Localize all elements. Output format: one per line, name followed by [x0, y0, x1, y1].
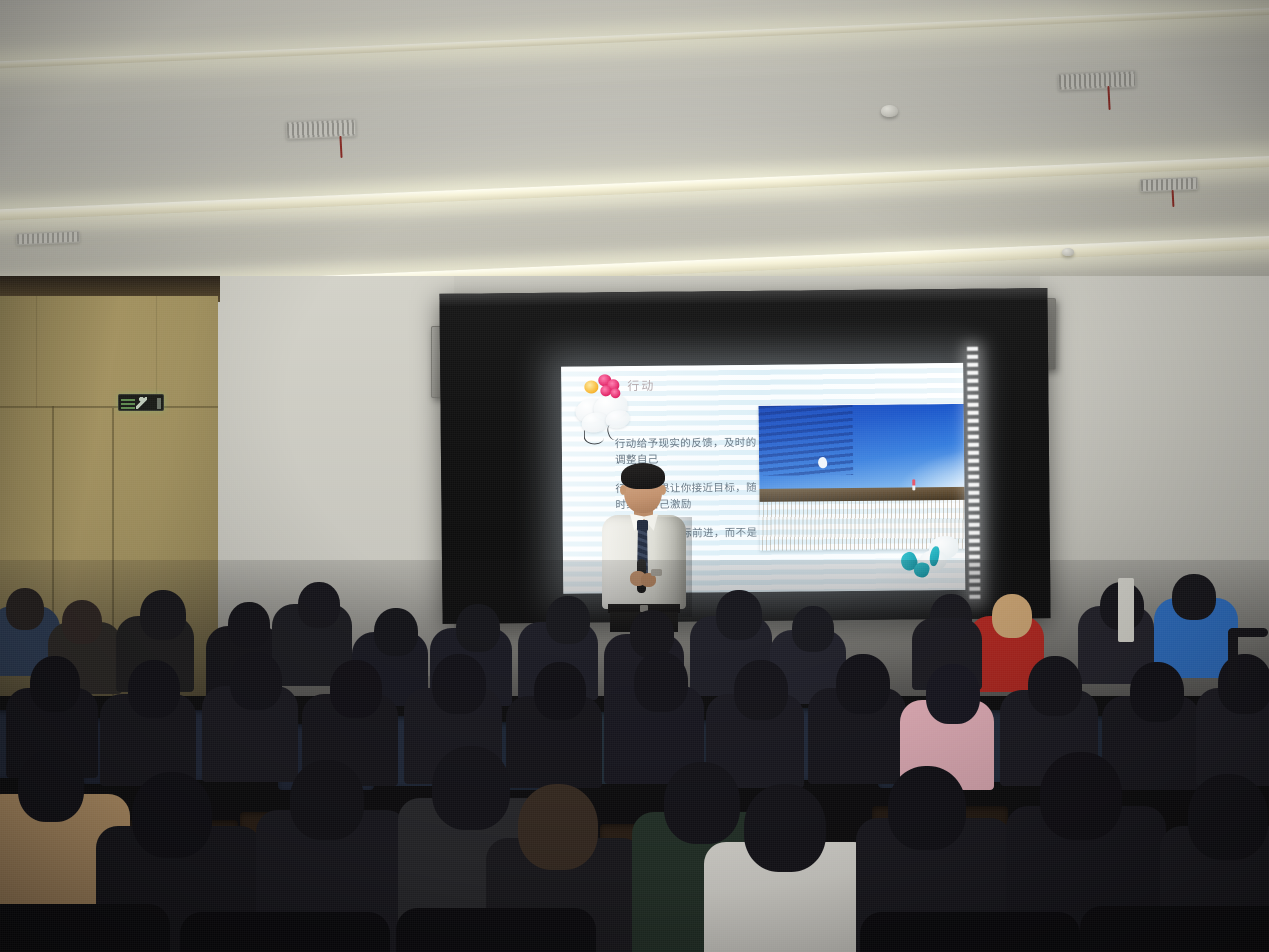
- audience-head: [630, 610, 674, 658]
- presenter-ear-left: [620, 485, 626, 495]
- flower-swirl-stem: [584, 430, 604, 444]
- audience-head: [140, 590, 186, 640]
- wheat-field-photo: [759, 403, 966, 550]
- audience-front-silhouette: [180, 912, 390, 952]
- audience-head: [30, 656, 80, 712]
- audience-head: [6, 588, 44, 630]
- audience-head: [836, 654, 890, 714]
- audience-head: [132, 772, 212, 858]
- ceiling: [0, 0, 1269, 300]
- whiteboard-stand: [1118, 578, 1134, 642]
- audience-head: [1130, 662, 1184, 722]
- audience-front-silhouette: [396, 908, 596, 952]
- audience-head: [1172, 574, 1216, 620]
- wood-seam-vertical-3: [36, 296, 37, 408]
- audience-head: [664, 762, 740, 844]
- wood-seam-horizontal: [0, 406, 218, 408]
- audience-head: [374, 608, 418, 656]
- wood-seam-vertical-4: [156, 296, 157, 408]
- audience-head: [456, 604, 500, 652]
- audience-head: [128, 660, 180, 718]
- exit-sign-bars-icon: [121, 398, 135, 409]
- audience-front-silhouette: [1080, 906, 1269, 952]
- audience-head: [716, 590, 762, 640]
- audience-head: [1188, 774, 1268, 860]
- audience-head: [228, 602, 270, 648]
- presenter-hair: [621, 463, 665, 489]
- audience-head: [734, 660, 788, 720]
- audience-head: [18, 750, 84, 822]
- audience-head-brown-hair: [518, 784, 598, 870]
- pink-flower: [610, 388, 620, 398]
- running-person-icon: [136, 397, 147, 409]
- exit-sign: [118, 394, 164, 411]
- audience-head-fur-hood: [992, 594, 1032, 638]
- audience-head: [1040, 752, 1122, 840]
- slide-title: 行动: [627, 377, 655, 394]
- lecture-hall-scene: 行动 行动给予现实的反馈，及时的调整自己 行动的结果让你接近目标，随时给予自己激…: [0, 0, 1269, 952]
- audience-head: [62, 600, 102, 644]
- audience-head: [1028, 656, 1082, 716]
- audience-head: [534, 662, 586, 720]
- exit-sign-light-panel: [157, 398, 161, 409]
- audience-head: [546, 596, 590, 644]
- audience-head: [888, 766, 966, 850]
- audience-head: [744, 784, 826, 872]
- audience-head: [290, 760, 364, 840]
- audience-head: [432, 746, 510, 830]
- seated-audience: [0, 560, 1269, 952]
- audience-head: [432, 654, 486, 714]
- photo-sky-banding: [759, 405, 854, 475]
- smoke-detector-1: [881, 105, 898, 117]
- audience-head: [330, 660, 382, 718]
- audience-front-silhouette: [0, 904, 170, 952]
- audience-head: [298, 582, 340, 628]
- audience-head: [230, 652, 282, 710]
- audience-head: [792, 606, 834, 652]
- audience-head: [1218, 654, 1269, 714]
- ceiling-air-vent-1: [286, 118, 357, 139]
- yellow-flower: [584, 380, 598, 393]
- audience-head: [926, 664, 980, 724]
- photo-distant-figure: [912, 480, 915, 491]
- presenter-ear-right: [660, 485, 666, 495]
- ceiling-air-vent-3: [1140, 177, 1199, 193]
- audience-head: [634, 652, 688, 712]
- smoke-detector-2: [1062, 248, 1074, 256]
- metal-chair-armrest: [1228, 628, 1268, 637]
- ceiling-air-vent-2: [1058, 70, 1137, 90]
- audience-front-silhouette: [860, 912, 1080, 952]
